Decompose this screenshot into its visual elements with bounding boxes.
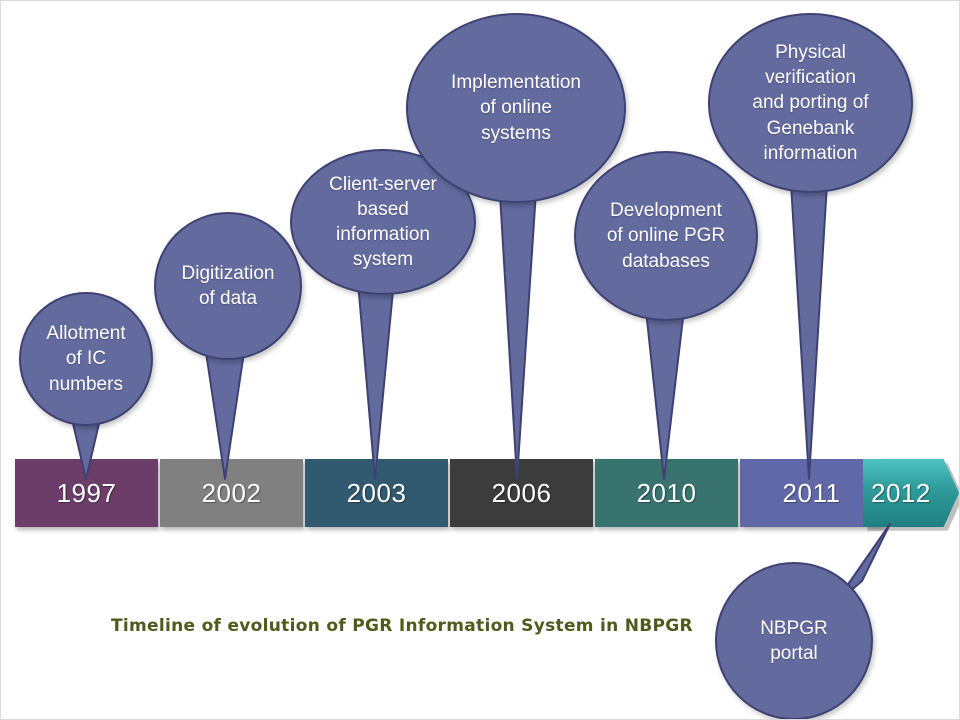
bubble-2002[interactable]: Digitization of data [154, 212, 302, 360]
bubble-text: Physical verification and porting of Gen… [742, 40, 878, 165]
bubble-text: NBPGR portal [750, 616, 838, 666]
bubble-text: Development of online PGR databases [597, 198, 735, 273]
bubble-2011[interactable]: Physical verification and porting of Gen… [708, 13, 913, 193]
bubble-2010[interactable]: Development of online PGR databases [574, 151, 758, 321]
bubble-2012[interactable]: NBPGR portal [715, 562, 873, 720]
bubble-1997[interactable]: Allotment of IC numbers [19, 292, 153, 426]
bubble-text: Allotment of IC numbers [36, 321, 135, 396]
bubble-text: Digitization of data [172, 261, 285, 311]
bubble-2006[interactable]: Implementation of online systems [406, 13, 626, 203]
bubble-text: Implementation of online systems [441, 70, 591, 145]
bubble-text: Client-server based information system [319, 172, 447, 272]
timeline-diagram: 1997 2002 2003 2006 2010 2011 2012 Allot… [0, 0, 960, 720]
